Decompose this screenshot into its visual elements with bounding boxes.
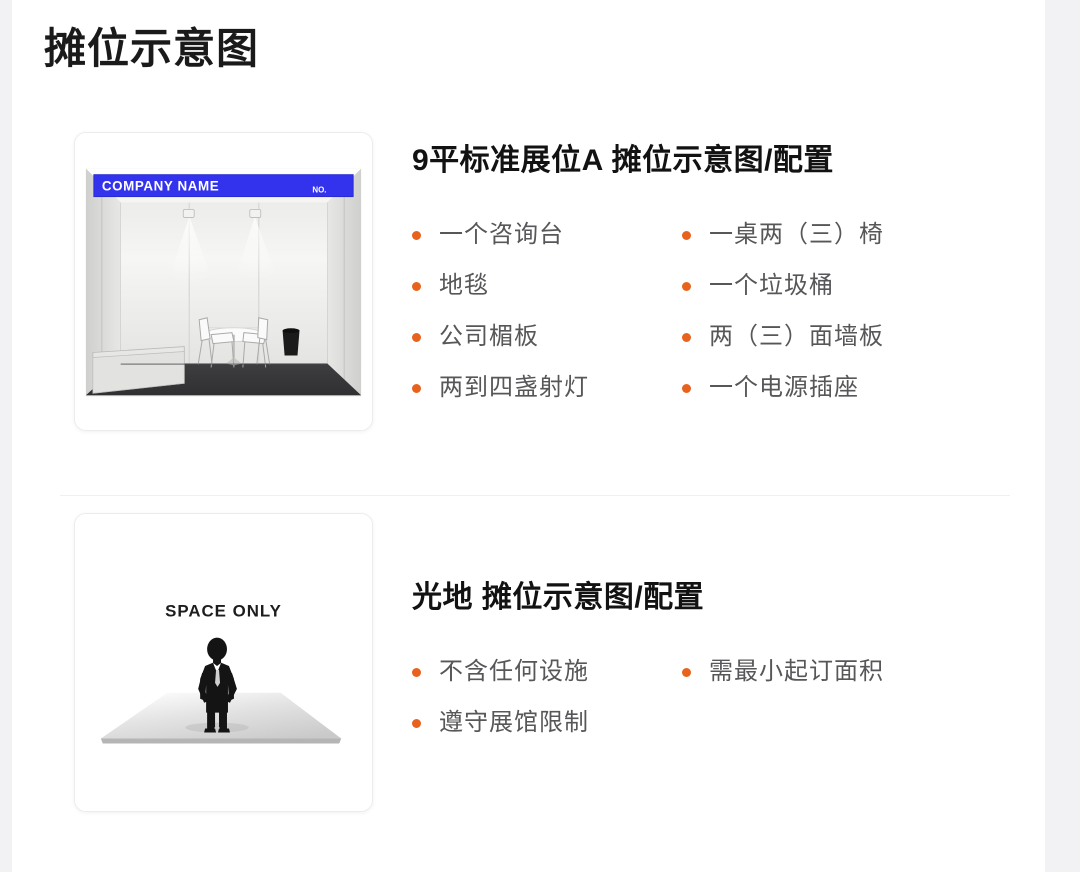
feature-item: 一桌两（三）椅 [682, 210, 952, 261]
booth-info: 9平标准展位A 摊位示意图/配置 一个咨询台 地毯 公司楣板 [412, 132, 1045, 414]
bullet-icon [682, 333, 691, 342]
feature-label: 一个垃圾桶 [709, 274, 834, 298]
space-only-illustration: SPACE ONLY [75, 514, 372, 811]
space-only-render-svg: SPACE ONLY [75, 514, 372, 811]
bullet-icon [682, 231, 691, 240]
feature-column-left: 一个咨询台 地毯 公司楣板 两到四盏射灯 [412, 210, 682, 414]
feature-column-right: 一桌两（三）椅 一个垃圾桶 两（三）面墙板 一个电源插座 [682, 210, 952, 414]
booth-illustration: COMPANY NAME NO. [75, 133, 372, 430]
feature-label: 两到四盏射灯 [439, 376, 589, 400]
bullet-icon [412, 333, 421, 342]
section-heading: 光地 摊位示意图/配置 [412, 579, 1045, 617]
feature-label: 需最小起订面积 [709, 660, 884, 684]
feature-column-left: 不含任何设施 遵守展馆限制 [412, 647, 682, 749]
feature-label: 一桌两（三）椅 [709, 223, 884, 247]
feature-item: 一个电源插座 [682, 363, 952, 414]
feature-label: 不含任何设施 [439, 660, 589, 684]
booth-render-svg: COMPANY NAME NO. [75, 133, 372, 430]
feature-item: 一个垃圾桶 [682, 261, 952, 312]
page-title: 摊位示意图 [44, 24, 259, 74]
bullet-icon [412, 668, 421, 677]
feature-label: 两（三）面墙板 [709, 325, 884, 349]
space-only-thumbnail-card[interactable]: SPACE ONLY [74, 513, 373, 812]
bullet-icon [412, 282, 421, 291]
feature-item: 公司楣板 [412, 312, 682, 363]
banner-number-text: NO. [312, 186, 326, 195]
section-heading: 9平标准展位A 摊位示意图/配置 [412, 142, 1045, 180]
bullet-icon [682, 384, 691, 393]
feature-item: 遵守展馆限制 [412, 698, 682, 749]
feature-label: 公司楣板 [439, 325, 539, 349]
feature-label: 一个咨询台 [439, 223, 564, 247]
section-space-only: SPACE ONLY [12, 513, 1045, 812]
bullet-icon [412, 719, 421, 728]
feature-item: 需最小起订面积 [682, 647, 952, 698]
section-divider [60, 495, 1010, 496]
space-only-info: 光地 摊位示意图/配置 不含任何设施 遵守展馆限制 需最小起订面积 [412, 513, 1045, 749]
feature-item: 一个咨询台 [412, 210, 682, 261]
bullet-icon [412, 231, 421, 240]
feature-item: 不含任何设施 [412, 647, 682, 698]
space-only-caption: SPACE ONLY [165, 601, 282, 620]
feature-column-right: 需最小起订面积 [682, 647, 952, 749]
booth-thumbnail-card[interactable]: COMPANY NAME NO. [74, 132, 373, 431]
bullet-icon [682, 668, 691, 677]
bullet-icon [682, 282, 691, 291]
feature-list: 不含任何设施 遵守展馆限制 需最小起订面积 [412, 647, 992, 749]
feature-label: 地毯 [439, 274, 489, 298]
feature-label: 一个电源插座 [709, 376, 859, 400]
feature-label: 遵守展馆限制 [439, 711, 589, 735]
feature-item: 地毯 [412, 261, 682, 312]
content-page: 摊位示意图 [12, 0, 1045, 872]
banner-company-text: COMPANY NAME [102, 179, 220, 194]
bullet-icon [412, 384, 421, 393]
feature-item: 两到四盏射灯 [412, 363, 682, 414]
section-standard-booth-a: COMPANY NAME NO. [12, 132, 1045, 431]
feature-list: 一个咨询台 地毯 公司楣板 两到四盏射灯 [412, 210, 992, 414]
feature-item: 两（三）面墙板 [682, 312, 952, 363]
